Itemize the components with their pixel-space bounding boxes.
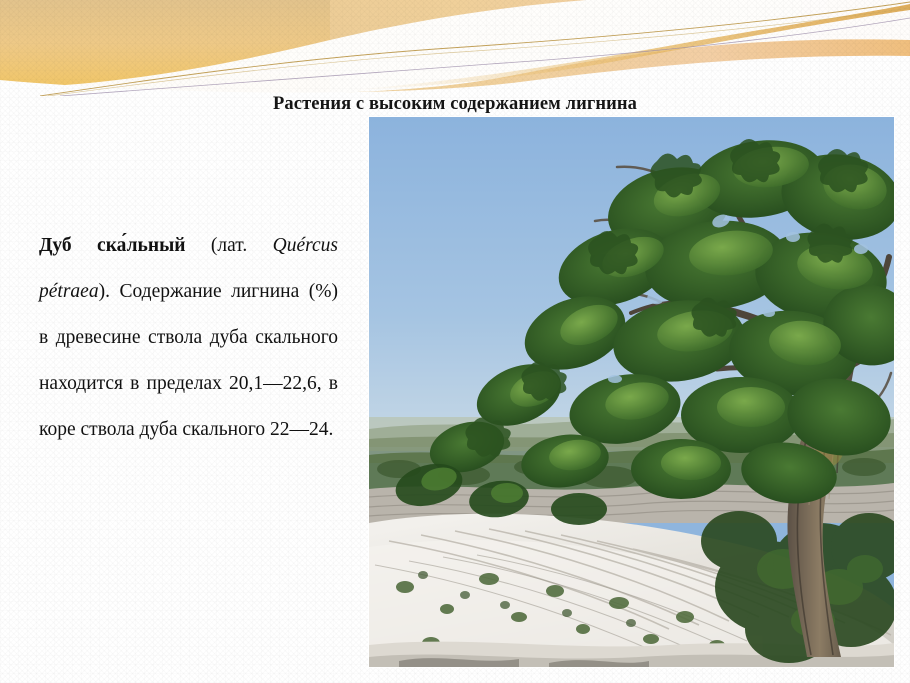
photo-oak-tree	[369, 117, 894, 667]
decorative-header-banner	[0, 0, 910, 96]
slide-title: Растения с высоким содержанием лигнина	[0, 94, 910, 115]
body-rest: ). Содержание лигнина (%) в древесине ст…	[39, 281, 338, 440]
body-paragraph: Дуб ска́льный (лат. Quércus pétraea). Со…	[39, 223, 338, 453]
paren-open: (лат.	[186, 235, 273, 256]
presentation-slide: Растения с высоким содержанием лигнина Д…	[0, 0, 910, 683]
species-name-russian: Дуб ска́льный	[39, 235, 186, 256]
